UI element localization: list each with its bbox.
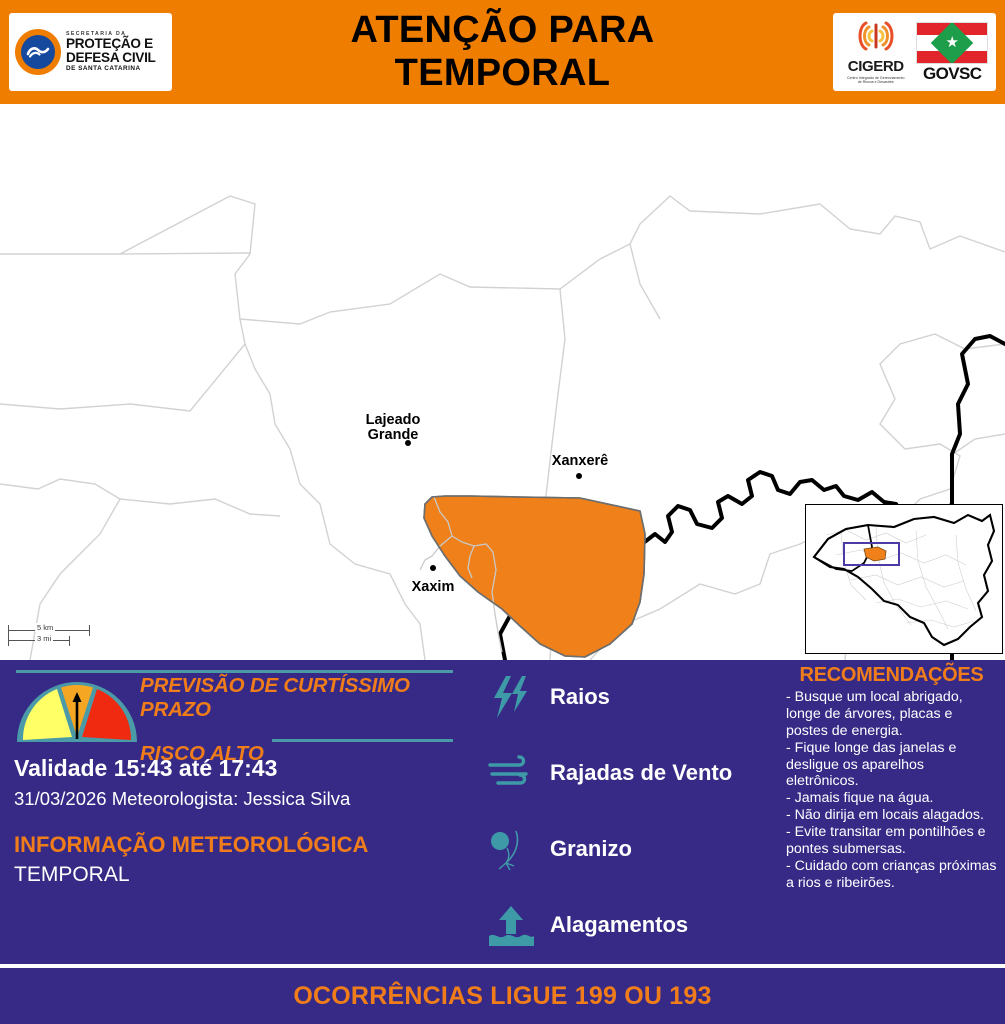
- govsc-text: GOVSC: [914, 65, 990, 82]
- recommendations-title: RECOMENDAÇÕES: [786, 664, 997, 687]
- partner-logos: CIGERD Centro Integrado de Gerenciamento…: [833, 13, 996, 91]
- cigerd-name: CIGERD: [839, 59, 913, 74]
- risk-gauge-icon: [14, 678, 140, 745]
- logo-line-1: PROTEÇÃO E: [66, 37, 156, 51]
- recommendation-item: - Fique longe das janelas e desligue os …: [786, 740, 997, 791]
- defesa-civil-logo: SECRETARIA DA PROTEÇÃO E DEFESA CIVIL DE…: [9, 13, 172, 91]
- flood-icon: [478, 902, 544, 948]
- hazard-label-alagamentos: Alagamentos: [550, 912, 688, 938]
- santa-catarina-flag-icon: ★: [916, 22, 988, 64]
- scale-km-label: 5 km: [35, 623, 55, 632]
- divider-top: [16, 670, 453, 673]
- recommendation-item: - Busque um local abrigado, longe de árv…: [786, 689, 997, 740]
- city-dot-xanxere: [576, 473, 582, 479]
- recommendations-section: RECOMENDAÇÕES - Busque um local abrigado…: [778, 660, 1005, 964]
- header-bar: SECRETARIA DA PROTEÇÃO E DEFESA CIVIL DE…: [0, 0, 1005, 104]
- map-scale-bar: 5 km 3 mi: [8, 625, 90, 646]
- logo-line-2: DEFESA CIVIL: [66, 51, 156, 65]
- validity-text: Validade 15:43 até 17:43: [14, 755, 277, 782]
- recommendation-item: - Jamais fique na água.: [786, 790, 997, 807]
- locator-inset-vector: [806, 505, 1001, 652]
- hazard-item-granizo: Granizo: [478, 822, 632, 876]
- city-dot-lajeado-grande: [405, 440, 411, 446]
- recommendation-item: - Cuidado com crianças próximas a rios e…: [786, 858, 997, 892]
- footer-bar: OCORRÊNCIAS LIGUE 199 OU 193: [0, 968, 1005, 1024]
- locator-alert-area: [864, 547, 886, 561]
- city-dot-xaxim: [430, 565, 436, 571]
- recommendation-item: - Evite transitar em pontilhões e pontes…: [786, 824, 997, 858]
- hazard-label-vento: Rajadas de Vento: [550, 760, 732, 786]
- logo-line-3: DE SANTA CATARINA: [66, 66, 156, 72]
- forecast-type-label: PREVISÃO DE CURTÍSSIMO PRAZO: [140, 674, 450, 722]
- hazard-item-alagamentos: Alagamentos: [478, 898, 688, 952]
- alert-area-polygon: [424, 496, 645, 657]
- hazard-label-granizo: Granizo: [550, 836, 632, 862]
- cigerd-tagline: Centro Integrado de Gerenciamento de Ris…: [839, 76, 913, 85]
- meteorologist-text: 31/03/2026 Meteorologista: Jessica Silva: [14, 788, 350, 810]
- alert-map[interactable]: Lajeado Grande Xanxerê Xaxim 5 km 3 mi: [0, 104, 1005, 660]
- gov-word: GOV: [923, 64, 959, 83]
- forecast-section: PREVISÃO DE CURTÍSSIMO PRAZO RISCO ALTO …: [0, 660, 470, 964]
- recommendations-list: - Busque um local abrigado, longe de árv…: [786, 689, 997, 892]
- sc-word: SC: [959, 64, 981, 83]
- locator-inset-map: [805, 504, 1003, 654]
- city-label-lajeado-grande: Lajeado Grande: [352, 413, 434, 443]
- hazard-item-raios: Raios: [478, 670, 610, 724]
- hazard-list: Raios Rajadas de Vento: [478, 660, 778, 964]
- defesa-civil-emblem: [15, 29, 61, 75]
- page-title: ATENÇÃO PARA TEMPORAL: [350, 9, 654, 95]
- emblem-glyph-icon: [26, 45, 50, 59]
- info-panel: PREVISÃO DE CURTÍSSIMO PRAZO RISCO ALTO …: [0, 660, 1005, 964]
- cigerd-mark-icon: [850, 19, 902, 53]
- city-label-xanxere: Xanxerê: [541, 454, 619, 469]
- emergency-phone-text: OCORRÊNCIAS LIGUE 199 OU 193: [293, 982, 711, 1011]
- city-label-xaxim: Xaxim: [404, 580, 462, 595]
- lightning-icon: [478, 674, 544, 720]
- forecast-heading: PREVISÃO DE CURTÍSSIMO PRAZO RISCO ALTO: [140, 674, 450, 766]
- weather-info-heading: INFORMAÇÃO METEOROLÓGICA: [14, 832, 368, 858]
- govsc-logo: ★ GOVSC: [914, 22, 990, 82]
- alert-poster: SECRETARIA DA PROTEÇÃO E DEFESA CIVIL DE…: [0, 0, 1005, 1024]
- hazard-item-vento: Rajadas de Vento: [478, 746, 732, 800]
- cigerd-logo: CIGERD Centro Integrado de Gerenciamento…: [839, 19, 913, 84]
- scale-mi-label: 3 mi: [35, 634, 53, 643]
- weather-info-value: TEMPORAL: [14, 863, 130, 887]
- wind-icon: [478, 753, 544, 793]
- hazard-label-raios: Raios: [550, 684, 610, 710]
- hail-icon: [478, 826, 544, 872]
- recommendation-item: - Não dirija em locais alagados.: [786, 807, 997, 824]
